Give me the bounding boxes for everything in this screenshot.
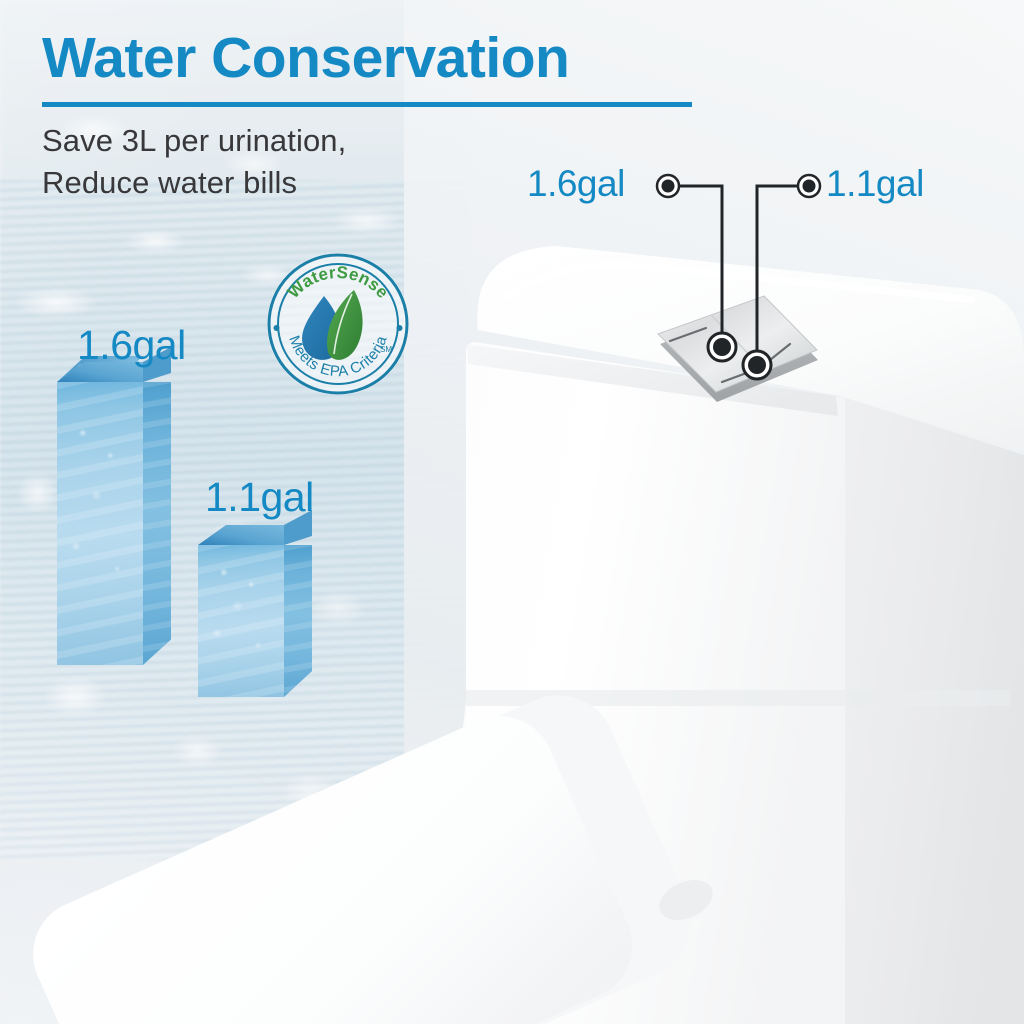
callout-line-full-flush: [678, 186, 722, 346]
subtitle-line-1: Save 3L per urination,: [42, 120, 346, 162]
half-flush-button[interactable]: [748, 356, 766, 374]
subtitle-block: Save 3L per urination, Reduce water bill…: [42, 120, 346, 204]
full-flush-button[interactable]: [713, 338, 731, 356]
page-title: Water Conservation: [42, 30, 569, 87]
product-feature-image: 1.6gal 1.1gal WaterSense Meets: [0, 0, 1024, 1024]
callout-label-half-flush: 1.1gal: [826, 163, 924, 205]
subtitle-line-2: Reduce water bills: [42, 162, 346, 204]
callout-label-full-flush: 1.6gal: [527, 163, 625, 205]
callout-dot-half-inner: [803, 180, 816, 193]
callout-line-half-flush: [757, 186, 799, 364]
callout-dot-full-inner: [662, 180, 675, 193]
title-underline: [42, 102, 692, 107]
